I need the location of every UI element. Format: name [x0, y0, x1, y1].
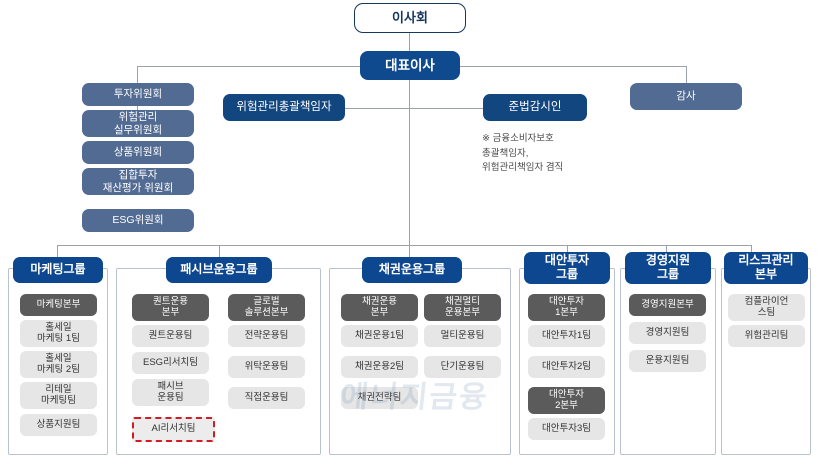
group-header-risk[interactable]: 리스크관리 본부	[724, 252, 808, 284]
division-bond-multi-hq[interactable]: 채권멀티 운용본부	[424, 294, 501, 321]
team-quant-management[interactable]: 퀀트운용팀	[132, 325, 209, 347]
team-wholesale-marketing-1[interactable]: 홀세일 마케팅 1팀	[20, 320, 97, 347]
division-quant-hq[interactable]: 퀀트운용 본부	[132, 294, 209, 321]
team-product-support[interactable]: 상품지원팀	[20, 414, 97, 436]
line-committee-stack	[137, 106, 138, 110]
team-management-support[interactable]: 경영지원팀	[629, 322, 706, 344]
team-alternative-investment-3[interactable]: 대안투자3팀	[528, 418, 605, 440]
box-committee-0[interactable]: 투자위원회	[82, 83, 194, 106]
division-management-support-hq[interactable]: 경영지원본부	[629, 294, 706, 316]
line-auditor-drop	[686, 66, 687, 83]
line-drop-group-3	[409, 245, 410, 257]
division-global-solution-hq[interactable]: 글로벌 솔루션본부	[228, 294, 305, 321]
group-header-marketing[interactable]: 마케팅그룹	[13, 257, 103, 283]
team-esg-research[interactable]: ESG리서치팀	[132, 352, 209, 374]
division-marketing-hq[interactable]: 마케팅본부	[20, 294, 97, 316]
division-bond-hq[interactable]: 채권운용 본부	[341, 294, 418, 321]
box-committee-4[interactable]: ESG위원회	[82, 209, 194, 232]
team-bond-management-2[interactable]: 채권운용2팀	[341, 356, 418, 378]
team-outsourced-management[interactable]: 위탁운용팀	[228, 356, 305, 378]
team-alternative-investment-1[interactable]: 대안투자1팀	[528, 325, 605, 347]
box-compliance-officer[interactable]: 준법감시인	[483, 94, 587, 121]
compliance-footnote: ※ 금융소비자보호 총괄책임자, 위험관리책임자 겸직	[482, 132, 662, 176]
team-risk-management[interactable]: 위험관리팀	[728, 325, 805, 347]
box-committee-2[interactable]: 상품위원회	[82, 141, 194, 164]
team-bond-strategy[interactable]: 채권전략팀	[341, 387, 418, 409]
division-alternative-1-hq[interactable]: 대안투자 1본부	[528, 294, 605, 321]
division-alternative-2-hq[interactable]: 대안투자 2본부	[528, 387, 605, 414]
org-chart-canvas: 이사회 대표이사 위험관리총괄책임자 준법감시인 감사 ※ 금융소비자보호 총괄…	[0, 0, 819, 469]
box-committee-1[interactable]: 위험관리 실무위원회	[82, 110, 194, 137]
team-bond-management-1[interactable]: 채권운용1팀	[341, 325, 418, 347]
line-drop-group-2	[219, 245, 220, 257]
line-ceo-to-groups	[409, 108, 410, 245]
team-compliance[interactable]: 컴플라이언 스팀	[728, 294, 805, 321]
line-committee-drop	[137, 66, 138, 83]
team-direct-management[interactable]: 직접운용팀	[228, 387, 305, 409]
box-auditor[interactable]: 감사	[630, 83, 742, 110]
team-ai-research[interactable]: AI리서치팀	[132, 417, 215, 442]
group-header-management-support[interactable]: 경영지원 그룹	[625, 252, 711, 284]
line-drop-group-1	[57, 245, 58, 257]
team-wholesale-marketing-2[interactable]: 홀세일 마케팅 2팀	[20, 351, 97, 378]
box-risk-management-officer[interactable]: 위험관리총괄책임자	[223, 94, 345, 121]
line-ceo-to-officers	[409, 80, 410, 108]
team-short-term-management[interactable]: 단기운용팀	[424, 356, 501, 378]
team-operations-support[interactable]: 운용지원팀	[629, 350, 706, 372]
team-strategy-management[interactable]: 전략운용팀	[228, 325, 305, 347]
line-group-bar	[57, 245, 751, 246]
team-alternative-investment-2[interactable]: 대안투자2팀	[528, 356, 605, 378]
team-passive-management[interactable]: 패시브 운용팀	[132, 379, 209, 406]
group-header-passive[interactable]: 패시브운용그룹	[166, 257, 272, 283]
group-header-alternative[interactable]: 대안투자 그룹	[524, 252, 610, 284]
group-header-bond[interactable]: 채권운용그룹	[362, 257, 462, 283]
box-ceo[interactable]: 대표이사	[360, 51, 460, 80]
line-board-to-ceo	[409, 33, 410, 52]
box-board-of-directors[interactable]: 이사회	[354, 3, 466, 33]
box-committee-3[interactable]: 집합투자 재산평가 위원회	[82, 168, 194, 195]
team-retail-marketing[interactable]: 리테일 마케팅팀	[20, 382, 97, 409]
team-multi-management[interactable]: 멀티운용팀	[424, 325, 501, 347]
